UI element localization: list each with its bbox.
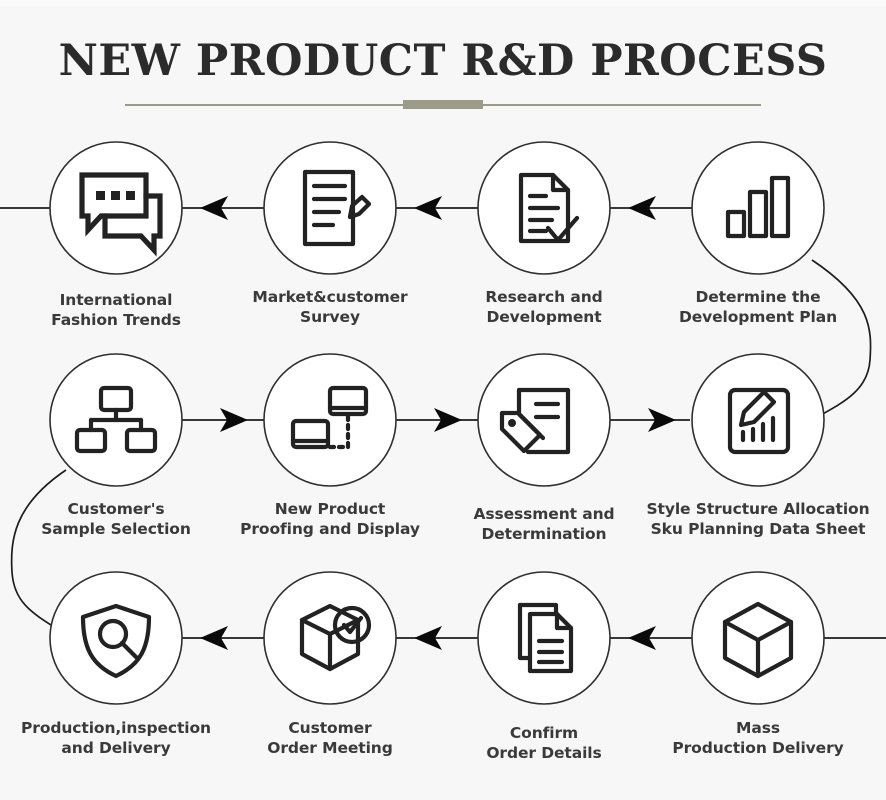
step-label-10: Customer Order Meeting	[220, 718, 440, 759]
step-label-9: Production,inspection and Delivery	[6, 718, 226, 759]
step-label-7: New Product Proofing and Display	[220, 499, 440, 540]
step-circle-9[interactable]	[50, 572, 182, 704]
flow-diagram-svg	[0, 0, 886, 800]
step-label-2: Market&customer Survey	[220, 287, 440, 328]
step-label-11: Confirm Order Details	[434, 723, 654, 764]
step-node-3[interactable]	[478, 142, 610, 274]
step-circle-6[interactable]	[478, 354, 610, 486]
step-label-5: Style Structure Allocation Sku Planning …	[640, 499, 876, 540]
connector-curve-row1-to-row2	[812, 260, 871, 420]
step-node-8[interactable]	[50, 354, 182, 486]
step-node-2[interactable]	[264, 142, 396, 274]
step-node-9[interactable]	[50, 572, 182, 704]
step-circle-2[interactable]	[264, 142, 396, 274]
step-label-4: Determine the Development Plan	[648, 287, 868, 328]
step-node-7[interactable]	[264, 354, 396, 486]
step-node-4[interactable]	[692, 142, 824, 274]
step-label-12: Mass Production Delivery	[648, 718, 868, 759]
step-label-6: Assessment and Determination	[434, 504, 654, 545]
step-circle-4[interactable]	[692, 142, 824, 274]
step-node-1[interactable]	[50, 142, 182, 274]
step-label-1: International Fashion Trends	[6, 290, 226, 331]
step-circle-11[interactable]	[478, 572, 610, 704]
step-node-5[interactable]	[692, 354, 824, 486]
step-node-12[interactable]	[692, 572, 824, 704]
step-label-3: Research and Development	[434, 287, 654, 328]
step-node-11[interactable]	[478, 572, 610, 704]
process-diagram-page: NEW PRODUCT R&D PROCESS	[0, 0, 886, 800]
step-node-10[interactable]	[264, 572, 396, 704]
step-circle-7[interactable]	[264, 354, 396, 486]
step-node-6[interactable]	[478, 354, 610, 486]
step-label-8: Customer's Sample Selection	[6, 499, 226, 540]
